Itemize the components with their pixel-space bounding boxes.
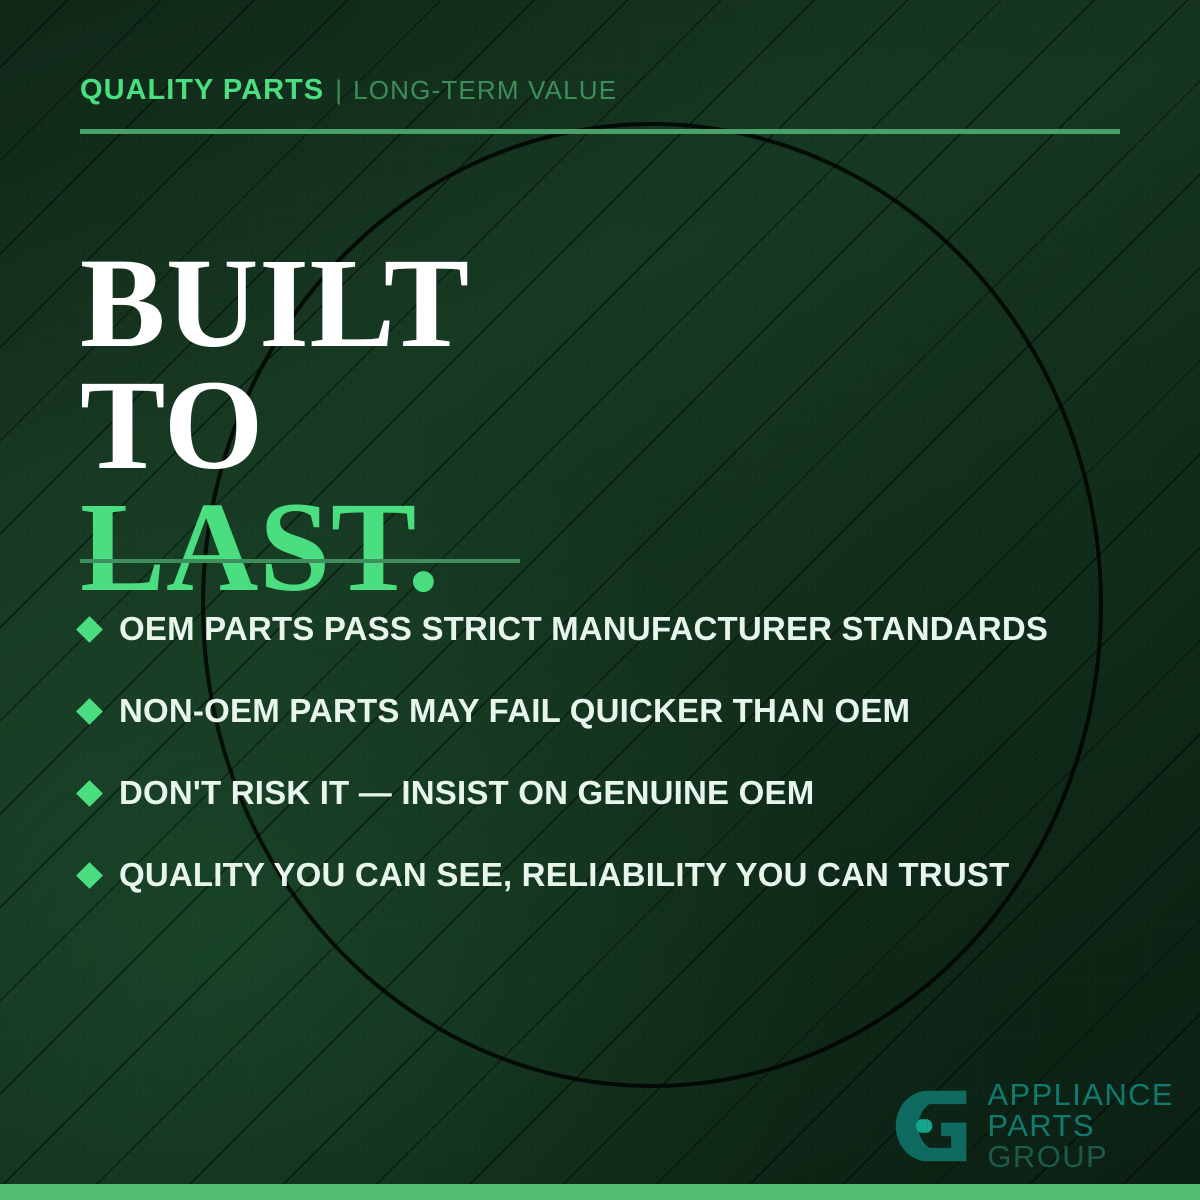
- headline-line-2: TO: [80, 364, 470, 486]
- diamond-bullet-icon: [76, 780, 103, 807]
- headline-line-1: BUILT: [80, 242, 470, 364]
- bottom-accent-bar: [0, 1184, 1200, 1200]
- page-title: BUILT TO LAST.: [80, 242, 470, 609]
- logo-word-parts: PARTS: [987, 1110, 1174, 1141]
- list-item-label: OEM PARTS PASS STRICT MANUFACTURER STAND…: [119, 610, 1048, 648]
- list-item-label: QUALITY YOU CAN SEE, RELIABILITY YOU CAN…: [119, 856, 1009, 894]
- poster-canvas: QUALITY PARTS | LONG-TERM VALUE BUILT TO…: [0, 0, 1200, 1200]
- diamond-bullet-icon: [76, 698, 103, 725]
- diamond-bullet-icon: [76, 616, 103, 643]
- list-item: DON'T RISK IT — INSIST ON GENUINE OEM: [80, 752, 1150, 834]
- brand-logo-wordmark: APPLIANCE PARTS GROUP: [987, 1079, 1174, 1172]
- list-item: QUALITY YOU CAN SEE, RELIABILITY YOU CAN…: [80, 834, 1150, 916]
- list-item-label: NON-OEM PARTS MAY FAIL QUICKER THAN OEM: [119, 692, 910, 730]
- g-monogram-icon: [889, 1084, 973, 1168]
- eyebrow-sub-label: LONG-TERM VALUE: [353, 75, 617, 106]
- headline-divider-rule: [80, 559, 520, 563]
- eyebrow-separator: |: [335, 75, 342, 106]
- header-divider-rule: [80, 129, 1120, 134]
- brand-logo: APPLIANCE PARTS GROUP: [889, 1079, 1174, 1172]
- eyebrow: QUALITY PARTS | LONG-TERM VALUE: [80, 74, 617, 107]
- eyebrow-main-label: QUALITY PARTS: [80, 74, 324, 107]
- logo-word-appliance: APPLIANCE: [987, 1079, 1174, 1110]
- list-item-label: DON'T RISK IT — INSIST ON GENUINE OEM: [119, 774, 814, 812]
- diamond-bullet-icon: [76, 862, 103, 889]
- logo-word-group: GROUP: [987, 1141, 1174, 1172]
- benefits-list: OEM PARTS PASS STRICT MANUFACTURER STAND…: [80, 588, 1150, 916]
- list-item: OEM PARTS PASS STRICT MANUFACTURER STAND…: [80, 588, 1150, 670]
- list-item: NON-OEM PARTS MAY FAIL QUICKER THAN OEM: [80, 670, 1150, 752]
